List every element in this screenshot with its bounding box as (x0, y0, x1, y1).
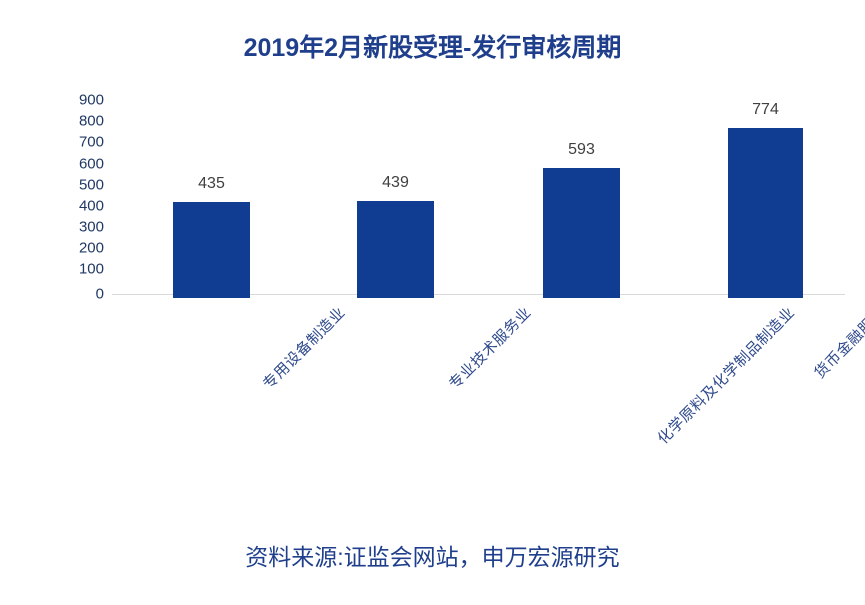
y-tick-label: 0 (52, 287, 104, 302)
bar-value-label: 435 (145, 175, 278, 193)
x-category-label: 专业技术服务业 (444, 302, 536, 394)
bar-rect[interactable] (173, 202, 250, 298)
y-tick-label: 800 (52, 114, 104, 129)
y-axis: 900 800 700 600 500 400 300 200 100 0 (52, 96, 104, 301)
y-tick-label: 200 (52, 241, 104, 256)
x-category-label: 货币金融服务 (809, 302, 865, 383)
y-tick-label: 600 (52, 157, 104, 172)
bar-value-label: 774 (700, 101, 831, 119)
bar-rect[interactable] (543, 168, 620, 298)
x-category-label: 专用设备制造业 (258, 302, 350, 394)
y-tick-label: 300 (52, 220, 104, 235)
y-tick-label: 500 (52, 178, 104, 193)
bar-rect[interactable] (728, 128, 803, 298)
y-tick-label: 700 (52, 135, 104, 150)
bar-rect[interactable] (357, 201, 434, 298)
bar-chart-figure: 2019年2月新股受理-发行审核周期 900 800 700 600 500 4… (0, 0, 865, 605)
plot-area: 435 439 593 774 (112, 100, 845, 298)
y-tick-label: 400 (52, 199, 104, 214)
x-category-label: 化学原料及化学制品制造业 (652, 302, 798, 448)
bar-value-label: 593 (515, 141, 648, 159)
bar-value-label: 439 (329, 174, 462, 192)
y-tick-label: 900 (52, 93, 104, 108)
chart-source-text: 资料来源:证监会网站，申万宏源研究 (0, 538, 865, 572)
y-tick-label: 100 (52, 262, 104, 277)
chart-title: 2019年2月新股受理-发行审核周期 (0, 28, 865, 64)
